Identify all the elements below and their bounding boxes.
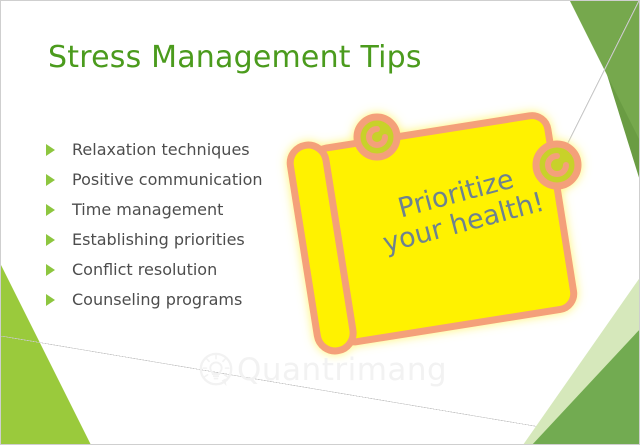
list-item: Counseling programs [46, 285, 263, 315]
list-item: Time management [46, 195, 263, 225]
list-item: Conflict resolution [46, 255, 263, 285]
list-item: Establishing priorities [46, 225, 263, 255]
list-item: Relaxation techniques [46, 135, 263, 165]
list-item-label: Establishing priorities [72, 232, 245, 248]
triangle-right-icon [46, 204, 62, 216]
triangle-right-icon [46, 294, 62, 306]
list-item-label: Time management [72, 202, 223, 218]
slide-canvas: Stress Management Tips Relaxation techni… [0, 0, 640, 445]
tips-list: Relaxation techniques Positive communica… [46, 135, 263, 315]
list-item-label: Conflict resolution [72, 262, 217, 278]
page-title: Stress Management Tips [48, 40, 422, 75]
scroll-parchment-icon [293, 97, 583, 372]
triangle-right-icon [46, 144, 62, 156]
list-item: Positive communication [46, 165, 263, 195]
triangle-right-icon [46, 174, 62, 186]
triangle-right-icon [46, 264, 62, 276]
list-item-label: Counseling programs [72, 292, 242, 308]
lightbulb-circle-icon [197, 351, 235, 389]
triangle-right-icon [46, 234, 62, 246]
scroll-graphic: Prioritize your health! [293, 97, 583, 372]
list-item-label: Relaxation techniques [72, 142, 250, 158]
list-item-label: Positive communication [72, 172, 263, 188]
